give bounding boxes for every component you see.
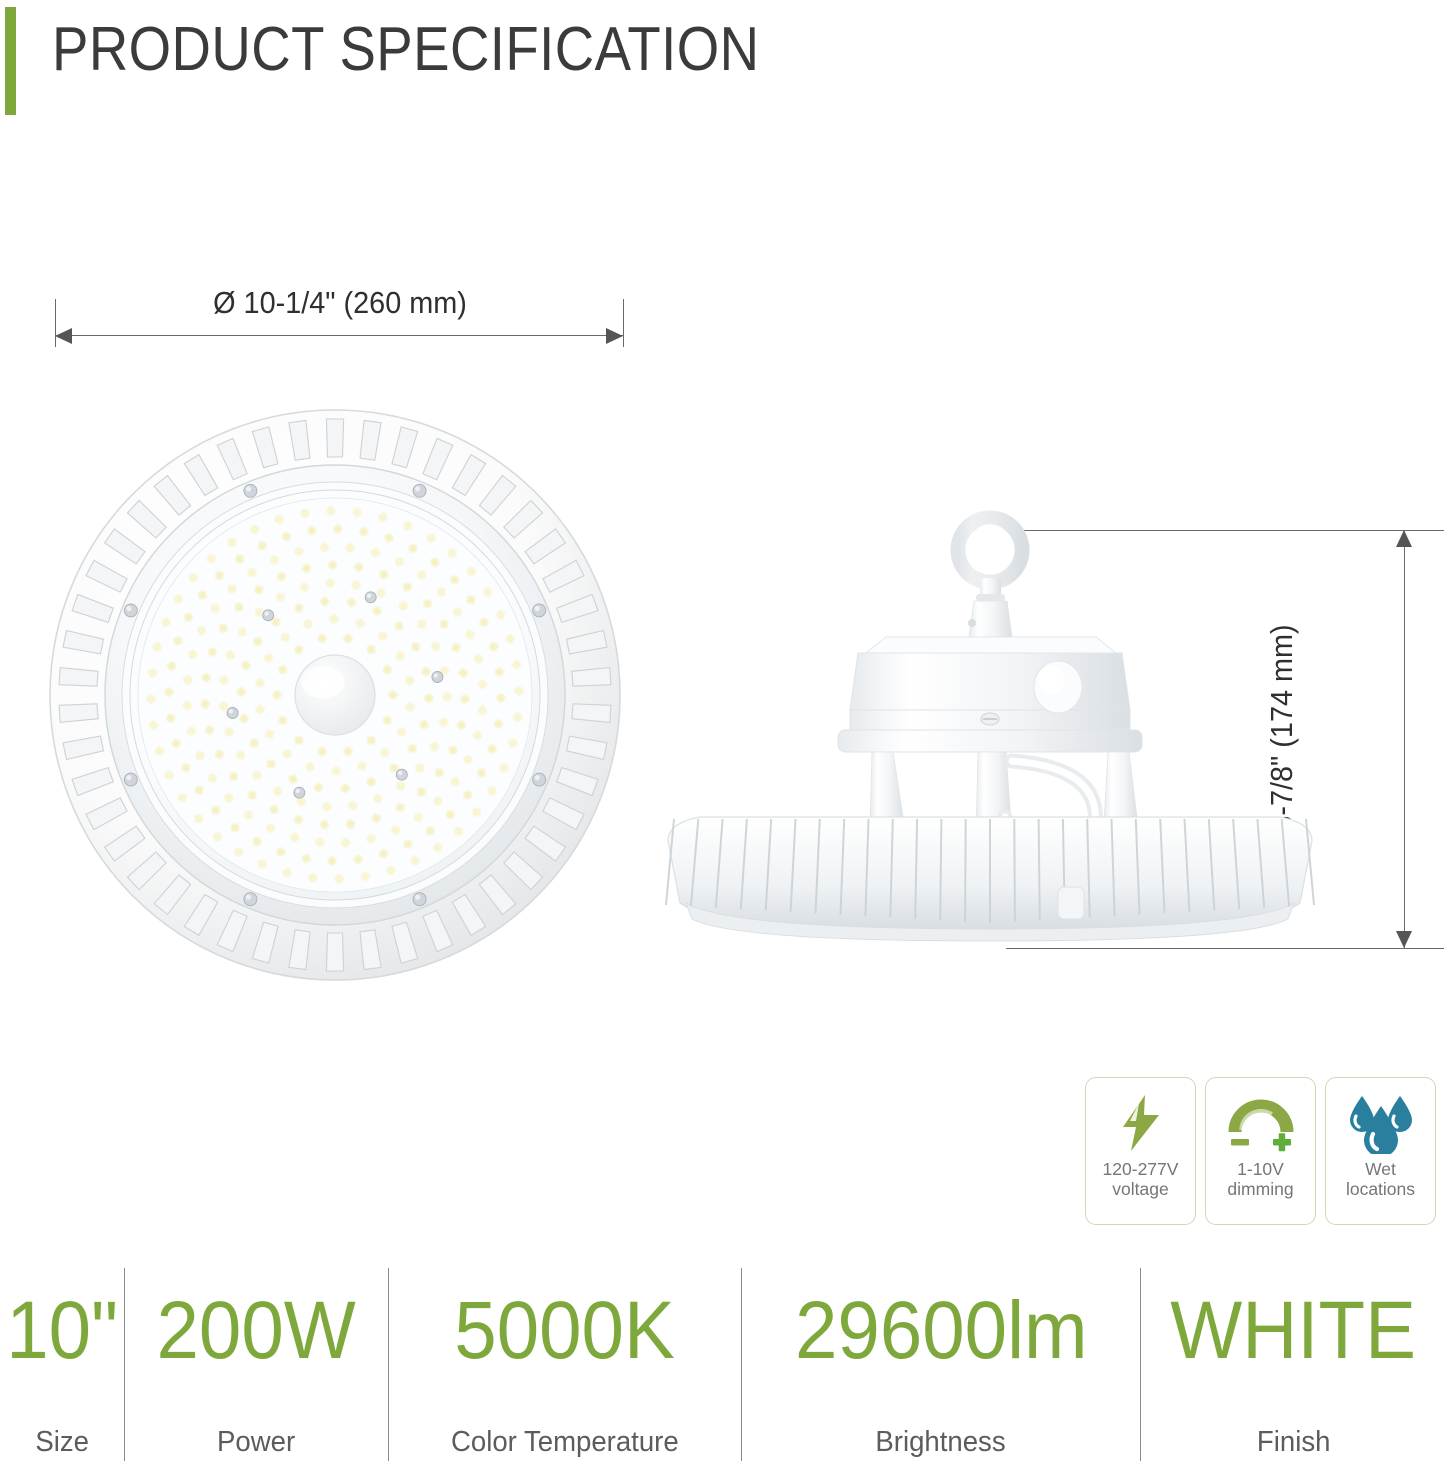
arrow-down-icon	[1396, 931, 1412, 948]
spec-finish-label: Finish	[1257, 1428, 1330, 1457]
badge-voltage-line1: 120-277V	[1103, 1159, 1179, 1179]
mounting-hook-icon	[958, 518, 1022, 601]
width-dimension-label: Ø 10-1/4" (260 mm)	[70, 285, 609, 321]
product-specification-page: PRODUCT SPECIFICATION Ø 10-1/4" (260 mm)…	[0, 0, 1445, 1461]
badge-dimming-line2: dimming	[1227, 1179, 1293, 1199]
spec-color-temperature: 5000K Color Temperature	[389, 1268, 741, 1461]
spec-size-value: 10"	[6, 1290, 118, 1372]
spec-color-temperature-label: Color Temperature	[451, 1428, 679, 1457]
badge-voltage-line2: voltage	[1103, 1179, 1179, 1199]
badge-wet-locations[interactable]: Wet locations	[1325, 1077, 1436, 1225]
arrow-left-icon	[55, 328, 72, 344]
width-extension-line-right	[623, 299, 624, 347]
spec-brightness: 29600lm Brightness	[742, 1268, 1140, 1461]
spec-summary-strip: 10" Size 200W Power 5000K Color Temperat…	[0, 1268, 1445, 1461]
badge-voltage[interactable]: 120-277V voltage	[1085, 1077, 1196, 1225]
arrow-up-icon	[1396, 530, 1412, 547]
spec-size: 10" Size	[0, 1268, 124, 1461]
spec-power: 200W Power	[125, 1268, 388, 1461]
badge-dimming-line1: 1-10V	[1227, 1159, 1293, 1179]
width-dimension: Ø 10-1/4" (260 mm)	[50, 285, 630, 345]
spec-color-temperature-value: 5000K	[455, 1290, 676, 1372]
dimming-arc-icon	[1228, 1090, 1294, 1156]
spec-finish-value: WHITE	[1171, 1290, 1417, 1372]
spec-finish: WHITE Finish	[1141, 1268, 1445, 1461]
driver-housing	[838, 637, 1142, 752]
badge-wet-line2: locations	[1346, 1179, 1415, 1199]
spec-brightness-value: 29600lm	[795, 1290, 1088, 1372]
badge-wet-line1: Wet	[1346, 1159, 1415, 1179]
product-side-view-image	[660, 505, 1320, 965]
badge-dimming[interactable]: 1-10V dimming	[1205, 1077, 1316, 1225]
product-front-view-image	[40, 400, 630, 990]
height-dimension-line	[1404, 531, 1405, 948]
arrow-right-icon	[606, 328, 623, 344]
spec-size-label: Size	[35, 1428, 89, 1457]
lightning-bolt-icon	[1115, 1090, 1167, 1156]
spec-power-label: Power	[217, 1428, 295, 1457]
width-dimension-line	[56, 335, 623, 336]
water-drops-icon	[1346, 1090, 1416, 1156]
accent-bar	[5, 7, 16, 115]
feature-badge-group: 120-277V voltage 1-10V dimming	[1085, 1077, 1437, 1225]
heat-sink-body	[666, 817, 1314, 941]
spec-power-value: 200W	[157, 1290, 356, 1372]
page-title: PRODUCT SPECIFICATION	[52, 14, 759, 85]
spec-brightness-label: Brightness	[876, 1428, 1006, 1457]
